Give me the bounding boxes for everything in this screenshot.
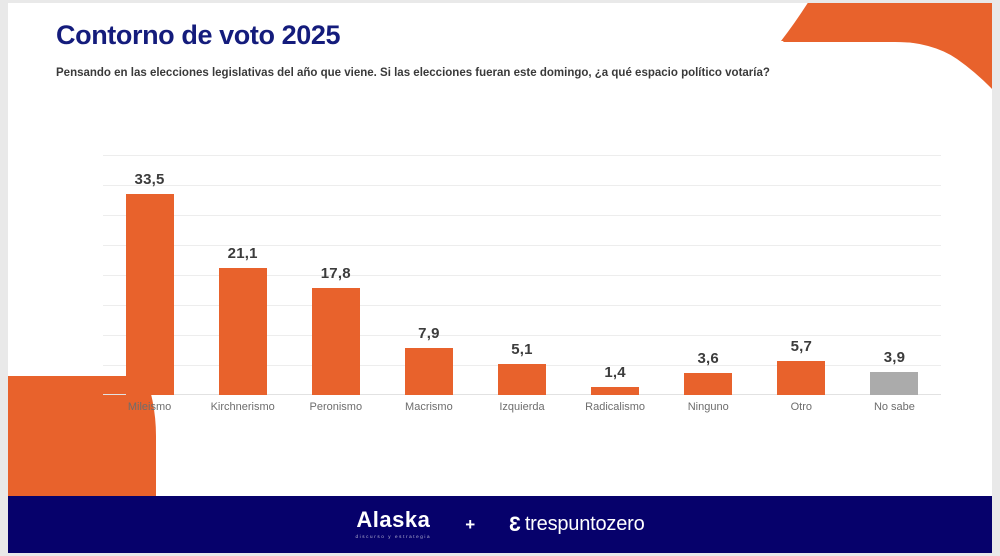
- bar-value-label: 5,7: [755, 338, 848, 355]
- bar[interactable]: [870, 372, 918, 395]
- chart-category-labels: MileismoKirchnerismoPeronismoMacrismoIzq…: [103, 401, 941, 413]
- brand-alaska: Alaska discurso y estrategia: [355, 509, 431, 540]
- bar-group[interactable]: 3,9: [848, 155, 941, 395]
- brand-alaska-name: Alaska: [356, 509, 430, 531]
- bar[interactable]: [405, 348, 453, 395]
- bar-group[interactable]: 5,7: [755, 155, 848, 395]
- category-label: Kirchnerismo: [196, 401, 289, 413]
- bar[interactable]: [312, 288, 360, 395]
- bar-value-label: 5,1: [475, 341, 568, 358]
- category-label: Radicalismo: [569, 401, 662, 413]
- category-label: Mileismo: [103, 401, 196, 413]
- bar-value-label: 21,1: [196, 245, 289, 262]
- category-label: Izquierda: [475, 401, 568, 413]
- bar-value-label: 3,9: [848, 349, 941, 366]
- category-label: Otro: [755, 401, 848, 413]
- chart-plot-area: 33,521,117,87,95,11,43,65,73,9: [103, 155, 941, 395]
- footer-bar: Alaska discurso y estrategia + 3 trespun…: [8, 496, 992, 553]
- bar[interactable]: [777, 361, 825, 395]
- category-label: No sabe: [848, 401, 941, 413]
- bar[interactable]: [126, 194, 174, 395]
- category-label: Macrismo: [382, 401, 475, 413]
- bar-group[interactable]: 21,1: [196, 155, 289, 395]
- bar-group[interactable]: 5,1: [475, 155, 568, 395]
- brand-trespuntozero-name: trespuntozero: [525, 513, 645, 536]
- page-subtitle: Pensando en las elecciones legislativas …: [56, 65, 776, 82]
- bar[interactable]: [684, 373, 732, 395]
- brand-alaska-tagline: discurso y estrategia: [355, 535, 431, 540]
- bar-group[interactable]: 3,6: [662, 155, 755, 395]
- brand-separator-plus: +: [465, 515, 475, 535]
- slide-canvas: Contorno de voto 2025 Pensando en las el…: [8, 3, 992, 553]
- bar-group[interactable]: 7,9: [382, 155, 475, 395]
- bar-value-label: 7,9: [382, 325, 475, 342]
- bar-value-label: 33,5: [103, 171, 196, 188]
- bar-group[interactable]: 17,8: [289, 155, 382, 395]
- trespuntozero-logo-icon: 3: [509, 513, 521, 537]
- bar[interactable]: [498, 364, 546, 395]
- decorative-shape-top-right: [781, 3, 992, 93]
- slide-viewer: Contorno de voto 2025 Pensando en las el…: [0, 0, 1000, 556]
- category-label: Ninguno: [662, 401, 755, 413]
- page-title: Contorno de voto 2025: [56, 20, 340, 51]
- bar-value-label: 1,4: [569, 364, 662, 381]
- bar-chart: 33,521,117,87,95,11,43,65,73,9 MileismoK…: [103, 155, 941, 425]
- bar-group[interactable]: 1,4: [569, 155, 662, 395]
- category-label: Peronismo: [289, 401, 382, 413]
- chart-bars: 33,521,117,87,95,11,43,65,73,9: [103, 155, 941, 395]
- bar[interactable]: [219, 268, 267, 395]
- brand-trespuntozero: 3 trespuntozero: [509, 513, 644, 537]
- bar-group[interactable]: 33,5: [103, 155, 196, 395]
- bar-value-label: 17,8: [289, 265, 382, 282]
- bar-value-label: 3,6: [662, 350, 755, 367]
- bar[interactable]: [591, 387, 639, 395]
